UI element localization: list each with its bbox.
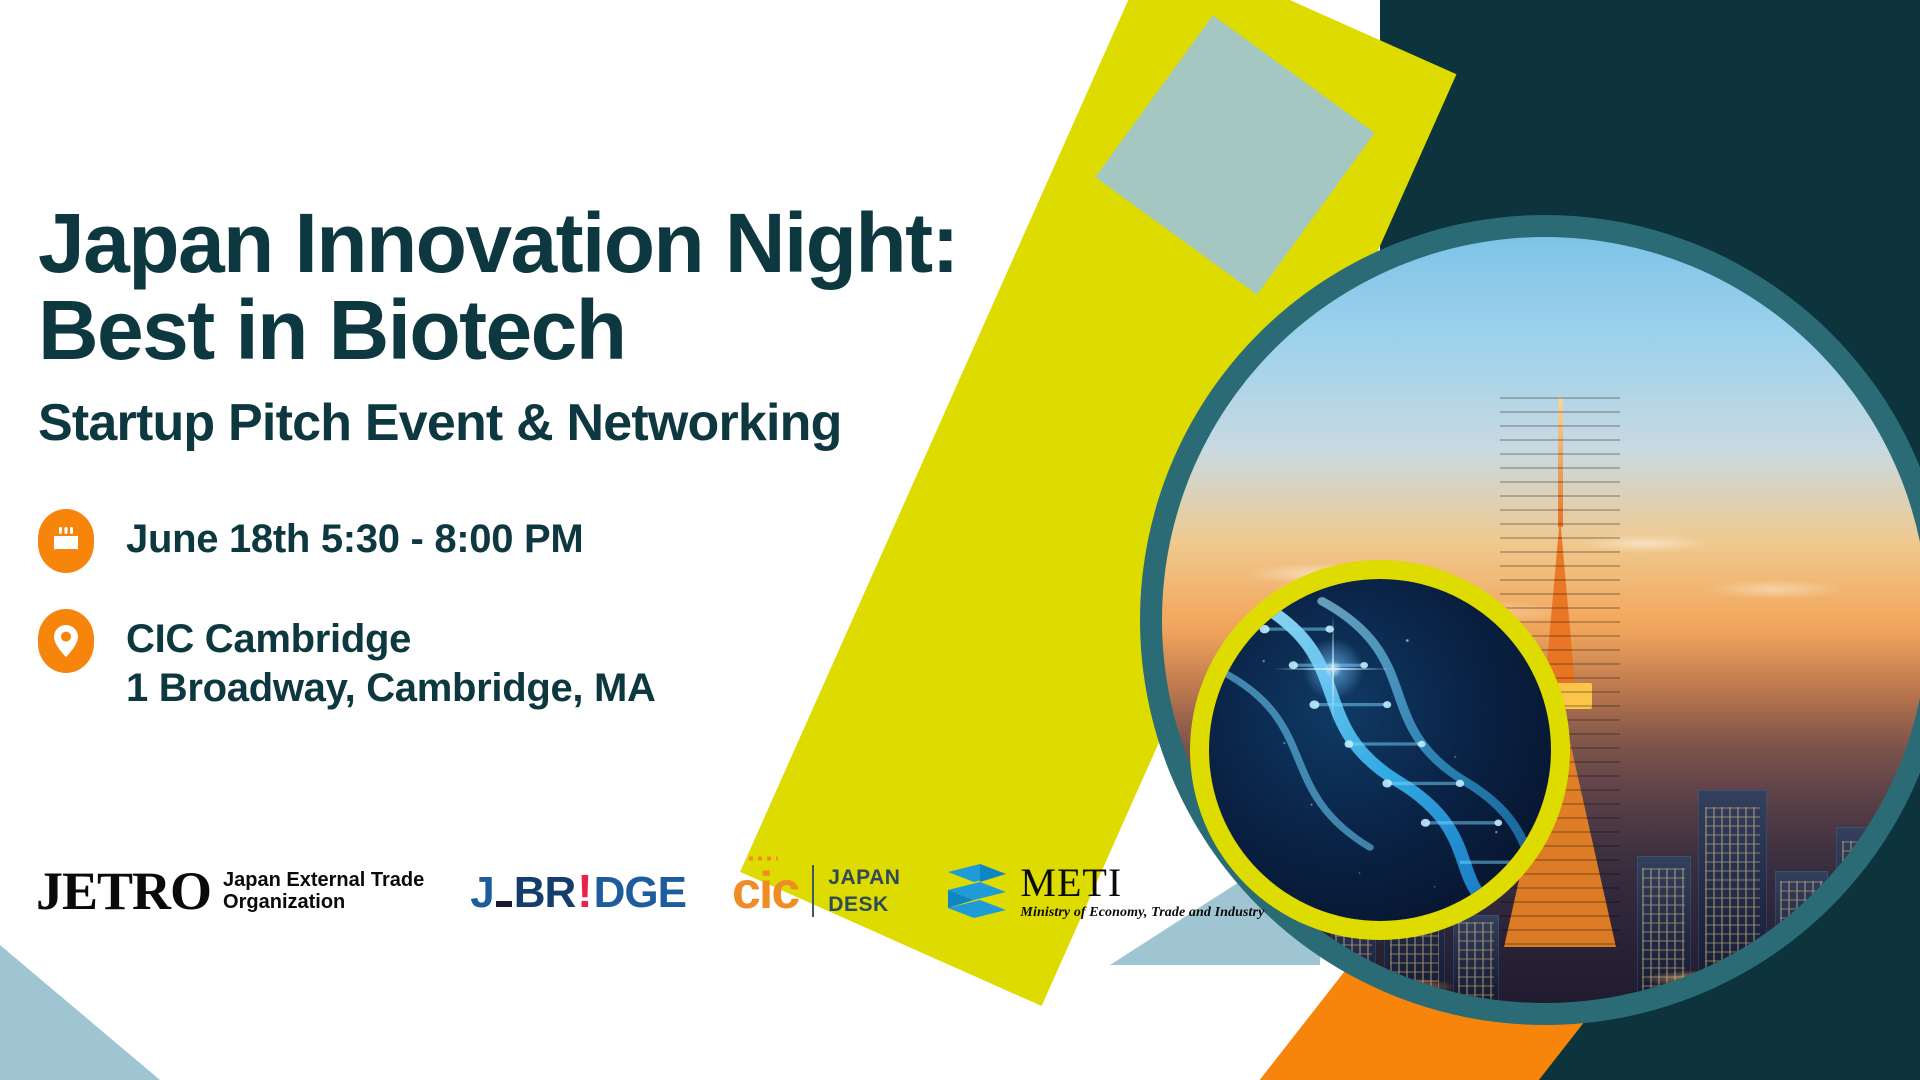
jetro-subtitle-line-1: Japan External Trade xyxy=(223,869,424,891)
location-pin-icon xyxy=(38,609,94,673)
cic-wordmark: cic xyxy=(732,865,798,917)
cic-wordmark-text: cic xyxy=(732,862,798,920)
cic-dots-accent xyxy=(748,856,778,861)
cic-japan-desk-logo: cic JAPAN DESK xyxy=(732,864,900,919)
event-poster: Japan Innovation Night: Best in Biotech … xyxy=(0,0,1920,1080)
page-title: Japan Innovation Night: Best in Biotech xyxy=(38,0,1098,373)
jetro-wordmark: JETRO xyxy=(36,864,211,918)
title-line-2: Best in Biotech xyxy=(38,283,625,377)
jetro-logo: JETRO Japan External Trade Organization xyxy=(36,864,424,918)
jbridge-logo: J BR ! DGE xyxy=(470,864,686,918)
title-line-1: Japan Innovation Night: xyxy=(38,196,958,290)
event-date-time: June 18th 5:30 - 8:00 PM xyxy=(126,507,583,564)
sponsor-logo-strip: JETRO Japan External Trade Organization … xyxy=(36,860,1264,922)
cic-divider xyxy=(812,865,814,917)
jbridge-dge: DGE xyxy=(594,868,686,918)
event-details-list: June 18th 5:30 - 8:00 PM CIC Cambridge 1… xyxy=(38,507,1098,713)
jbridge-j: J xyxy=(470,868,493,918)
jbridge-br: BR xyxy=(514,868,576,918)
event-venue: CIC Cambridge 1 Broadway, Cambridge, MA xyxy=(126,607,656,713)
meti-mark-icon xyxy=(946,860,1008,922)
venue-address: 1 Broadway, Cambridge, MA xyxy=(126,664,656,713)
light-blue-triangle-bottom-left xyxy=(0,945,160,1080)
event-content: Japan Innovation Night: Best in Biotech … xyxy=(38,0,1098,747)
jetro-subtitle-line-2: Organization xyxy=(223,891,345,913)
venue-name: CIC Cambridge xyxy=(126,617,411,661)
jbridge-exclamation: ! xyxy=(577,864,591,918)
calendar-icon xyxy=(38,509,94,573)
event-location-row: CIC Cambridge 1 Broadway, Cambridge, MA xyxy=(38,607,1098,713)
event-date-row: June 18th 5:30 - 8:00 PM xyxy=(38,507,1098,573)
jetro-subtitle: Japan External Trade Organization xyxy=(223,869,424,914)
cic-label-line-2: DESK xyxy=(828,893,888,916)
jbridge-dash xyxy=(496,901,512,907)
meti-tagline: Ministry of Economy, Trade and Industry xyxy=(1020,906,1264,920)
cic-label-line-1: JAPAN xyxy=(828,866,900,889)
meti-logo: METI Ministry of Economy, Trade and Indu… xyxy=(946,860,1264,922)
meti-text-block: METI Ministry of Economy, Trade and Indu… xyxy=(1020,863,1264,920)
event-subtitle: Startup Pitch Event & Networking xyxy=(38,393,1098,453)
cic-japan-desk-label: JAPAN DESK xyxy=(828,864,900,919)
dna-light-flare xyxy=(1298,634,1368,704)
meti-name: METI xyxy=(1020,860,1122,905)
